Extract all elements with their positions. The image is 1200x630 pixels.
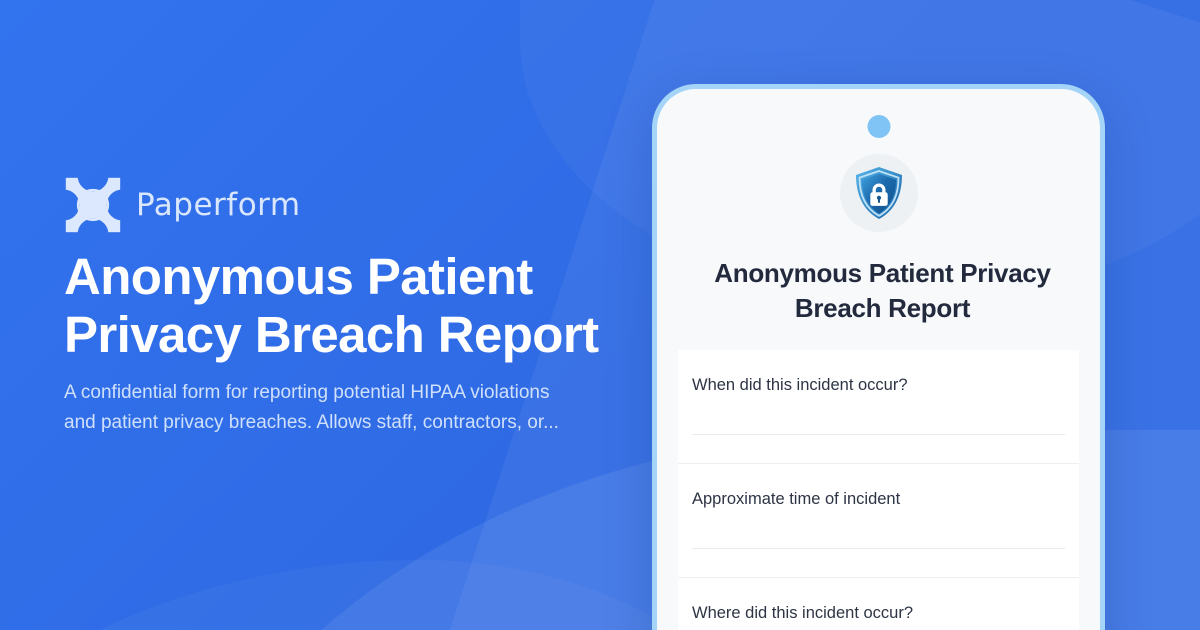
brand-name: Paperform [136,187,301,223]
field-label: When did this incident occur? [692,374,1065,396]
field-input-underline[interactable] [692,548,1065,549]
shield-lock-icon [854,166,904,220]
hero-content: Paperform Anonymous Patient Privacy Brea… [64,0,624,630]
form-field-where-did-incident-occur[interactable]: Where did this incident occur? [678,578,1079,630]
brand-lockup: Paperform [64,176,301,234]
social-card-stage: Paperform Anonymous Patient Privacy Brea… [0,0,1200,630]
field-input-underline[interactable] [692,434,1065,435]
field-label: Where did this incident occur? [692,602,1065,624]
paperform-logo-icon [64,176,122,234]
page-subtitle: A confidential form for reporting potent… [64,378,564,438]
page-title: Anonymous Patient Privacy Breach Report [64,248,624,364]
form-title: Anonymous Patient Privacy Breach Report [675,256,1090,326]
form-fields-list: When did this incident occur? Approximat… [678,350,1079,630]
form-field-approximate-time[interactable]: Approximate time of incident [678,464,1079,578]
form-field-when-did-incident-occur[interactable]: When did this incident occur? [678,350,1079,464]
field-label: Approximate time of incident [692,488,1065,510]
phone-mockup: Anonymous Patient Privacy Breach Report … [652,84,1105,630]
camera-dot-icon [867,115,890,138]
form-icon-badge [840,154,918,232]
